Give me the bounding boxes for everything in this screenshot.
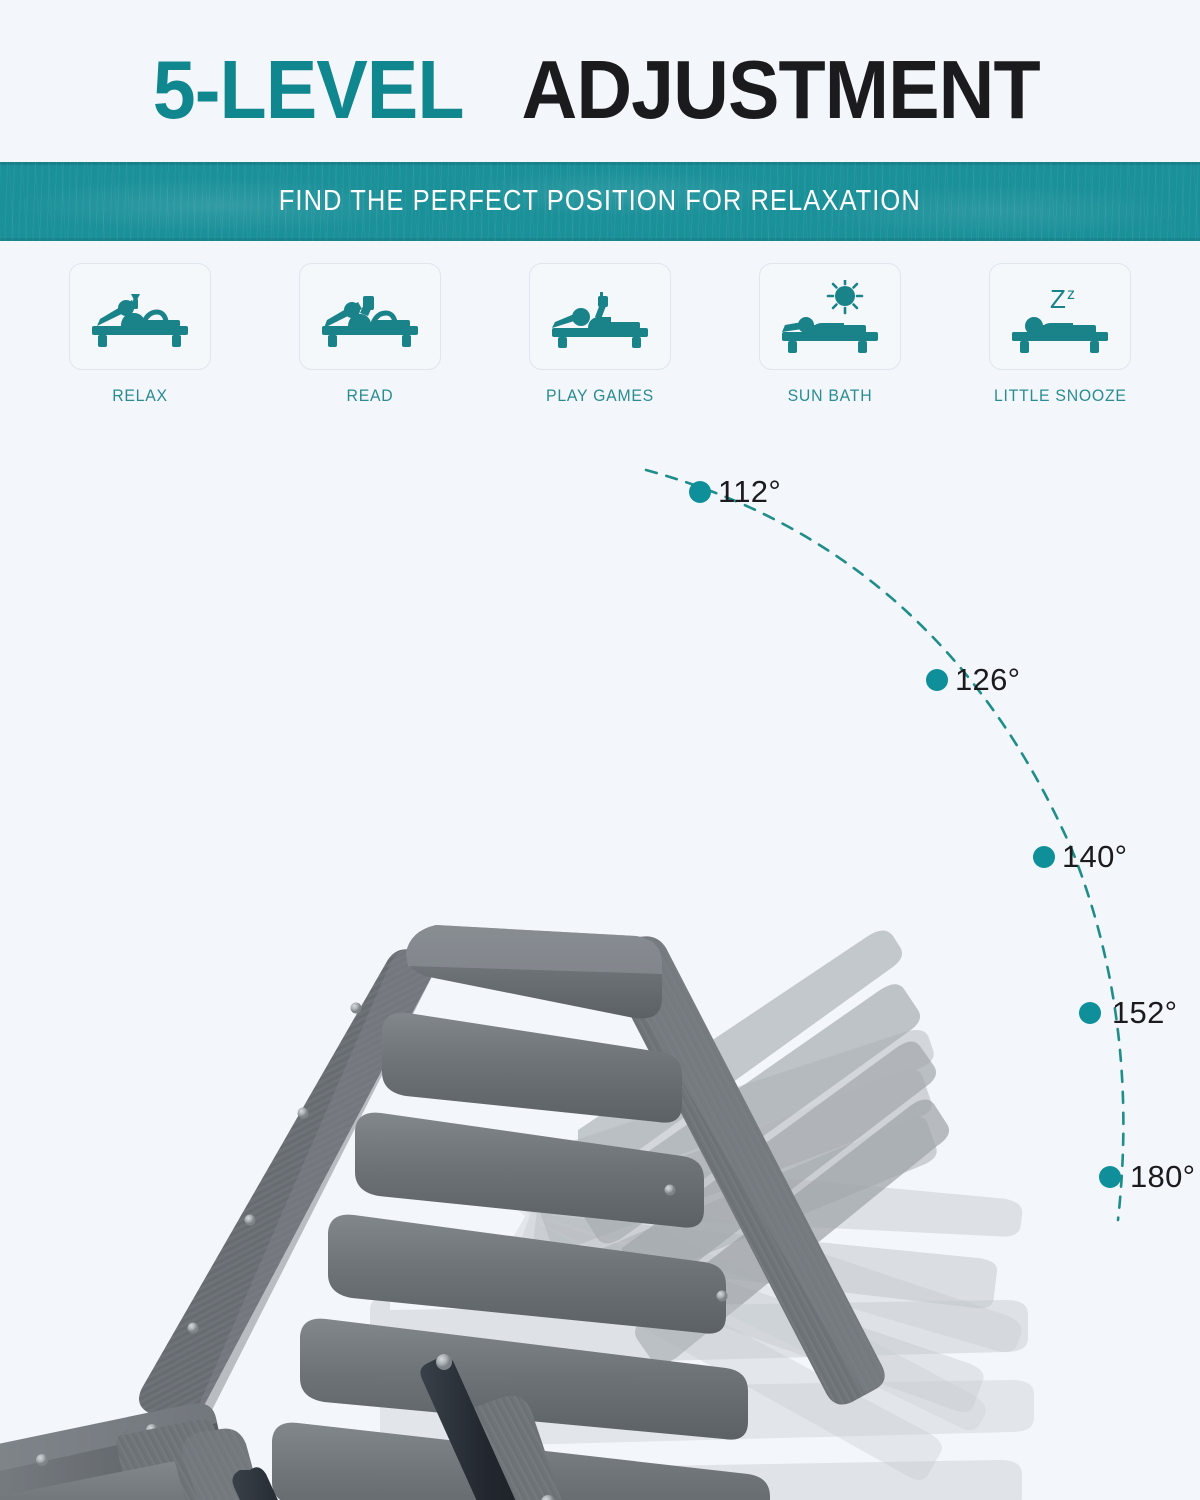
subtitle-banner: FIND THE PERFECT POSITION FOR RELAXATION xyxy=(0,162,1200,241)
feature-label: LITTLE SNOOZE xyxy=(994,386,1126,406)
person-reclining-with-drink-icon xyxy=(88,286,192,348)
banner-top-edge xyxy=(0,162,1200,165)
angle-label-112: 112° xyxy=(718,474,781,510)
feature-item-little-snooze: Z z LITTLE SNOOZE xyxy=(989,263,1131,406)
svg-text:Z: Z xyxy=(1050,284,1066,314)
feature-label: PLAY GAMES xyxy=(534,386,666,406)
feature-label: SUN BATH xyxy=(764,386,896,406)
page-title: 5-LEVELADJUSTMENT xyxy=(0,48,1200,131)
feature-item-play-games: PLAY GAMES xyxy=(529,263,671,406)
feature-item-read: READ xyxy=(299,263,441,406)
angle-label-126: 126° xyxy=(955,662,1020,698)
person-sleeping-zz-icon: Z z xyxy=(1008,280,1112,354)
feature-icon-box xyxy=(69,263,211,370)
person-reading-book-icon xyxy=(318,286,422,348)
feature-label: READ xyxy=(304,386,436,406)
banner-subtitle-text: FIND THE PERFECT POSITION FOR RELAXATION xyxy=(279,185,921,218)
feature-label: RELAX xyxy=(74,386,206,406)
title-accent-text: 5-LEVEL xyxy=(153,48,464,131)
angle-label-152: 152° xyxy=(1112,995,1177,1031)
chaise-lounge-illustration xyxy=(0,430,1200,1500)
person-holding-device-icon xyxy=(548,286,652,348)
feature-item-sun-bath: SUN BATH xyxy=(759,263,901,406)
feature-icon-box: Z z xyxy=(989,263,1131,370)
svg-text:z: z xyxy=(1067,286,1075,303)
feature-icon-box xyxy=(529,263,671,370)
title-main-text: ADJUSTMENT xyxy=(521,48,1039,131)
feature-icon-box xyxy=(759,263,901,370)
feature-icon-box xyxy=(299,263,441,370)
product-diagram: 112° 126° 140° 152° 180° xyxy=(0,430,1200,1500)
angle-label-140: 140° xyxy=(1062,839,1127,875)
feature-icon-row: RELAX xyxy=(0,263,1200,406)
angle-label-180: 180° xyxy=(1130,1159,1195,1195)
person-lying-flat-with-sun-icon xyxy=(778,280,882,354)
feature-item-relax: RELAX xyxy=(69,263,211,406)
banner-bottom-edge xyxy=(0,238,1200,241)
infographic-page: 5-LEVELADJUSTMENT FIND THE PERFECT POSIT… xyxy=(0,0,1200,1500)
